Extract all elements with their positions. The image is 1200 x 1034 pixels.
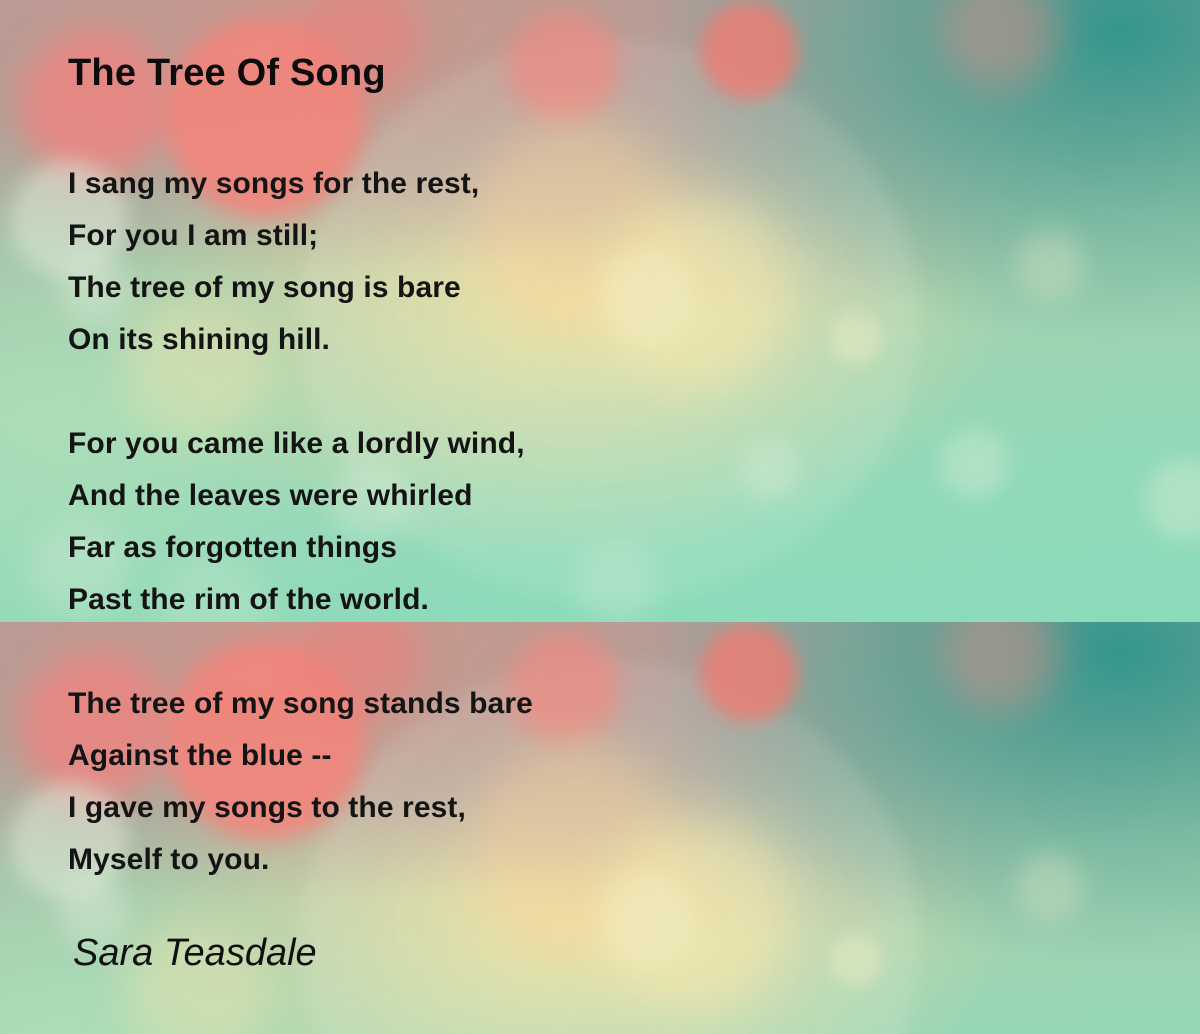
poem-stanza-1: I sang my songs for the rest, For you I … bbox=[68, 158, 479, 366]
poem-author: Sara Teasdale bbox=[73, 932, 317, 975]
poem-line: On its shining hill. bbox=[68, 314, 479, 366]
poem-line: The tree of my song stands bare bbox=[68, 678, 533, 730]
poem-line: I sang my songs for the rest, bbox=[68, 158, 479, 210]
poem-image-canvas: The Tree Of Song I sang my songs for the… bbox=[0, 0, 1200, 1034]
poem-line: I gave my songs to the rest, bbox=[68, 782, 533, 834]
poem-line: Against the blue -- bbox=[68, 730, 533, 782]
poem-line: The tree of my song is bare bbox=[68, 262, 479, 314]
poem-line: For you came like a lordly wind, bbox=[68, 418, 525, 470]
poem-line: Myself to you. bbox=[68, 834, 533, 886]
poem-line: And the leaves were whirled bbox=[68, 470, 525, 522]
poem-stanza-2: For you came like a lordly wind, And the… bbox=[68, 418, 525, 626]
poem-title: The Tree Of Song bbox=[68, 52, 386, 95]
poem-line: For you I am still; bbox=[68, 210, 479, 262]
poem-stanza-3: The tree of my song stands bare Against … bbox=[68, 678, 533, 886]
poem-line: Past the rim of the world. bbox=[68, 574, 525, 626]
poem-text-layer: The Tree Of Song I sang my songs for the… bbox=[0, 0, 1200, 1034]
poem-line: Far as forgotten things bbox=[68, 522, 525, 574]
